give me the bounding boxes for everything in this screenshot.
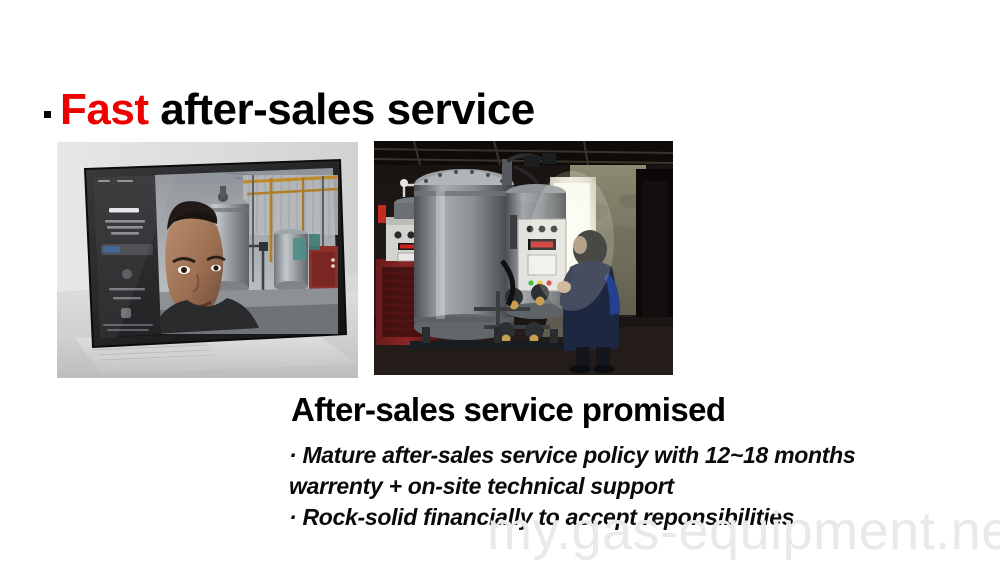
promise-bullet-list: · Mature after-sales service policy with… <box>289 440 969 533</box>
tablet-photo-illustration <box>57 142 358 378</box>
tablet-facetime-call-photo <box>57 142 358 378</box>
promise-heading: After-sales service promised <box>291 392 725 428</box>
promise-bullet-line-3: · Rock-solid financially to accept repon… <box>289 502 969 533</box>
technician-nitrogen-generator-photo <box>374 141 673 375</box>
title-accent-word: Fast <box>60 85 148 134</box>
title-rest: after-sales service <box>148 85 534 134</box>
promise-bullet-line-2: warrenty + on-site technical support <box>289 471 969 502</box>
workshop-photo-illustration <box>374 141 673 375</box>
slide-canvas: Fast after-sales service <box>0 0 1000 563</box>
page-title: Fast after-sales service <box>44 88 535 132</box>
promise-bullet-line-1: · Mature after-sales service policy with… <box>289 440 969 471</box>
title-bullet-icon <box>44 111 51 118</box>
